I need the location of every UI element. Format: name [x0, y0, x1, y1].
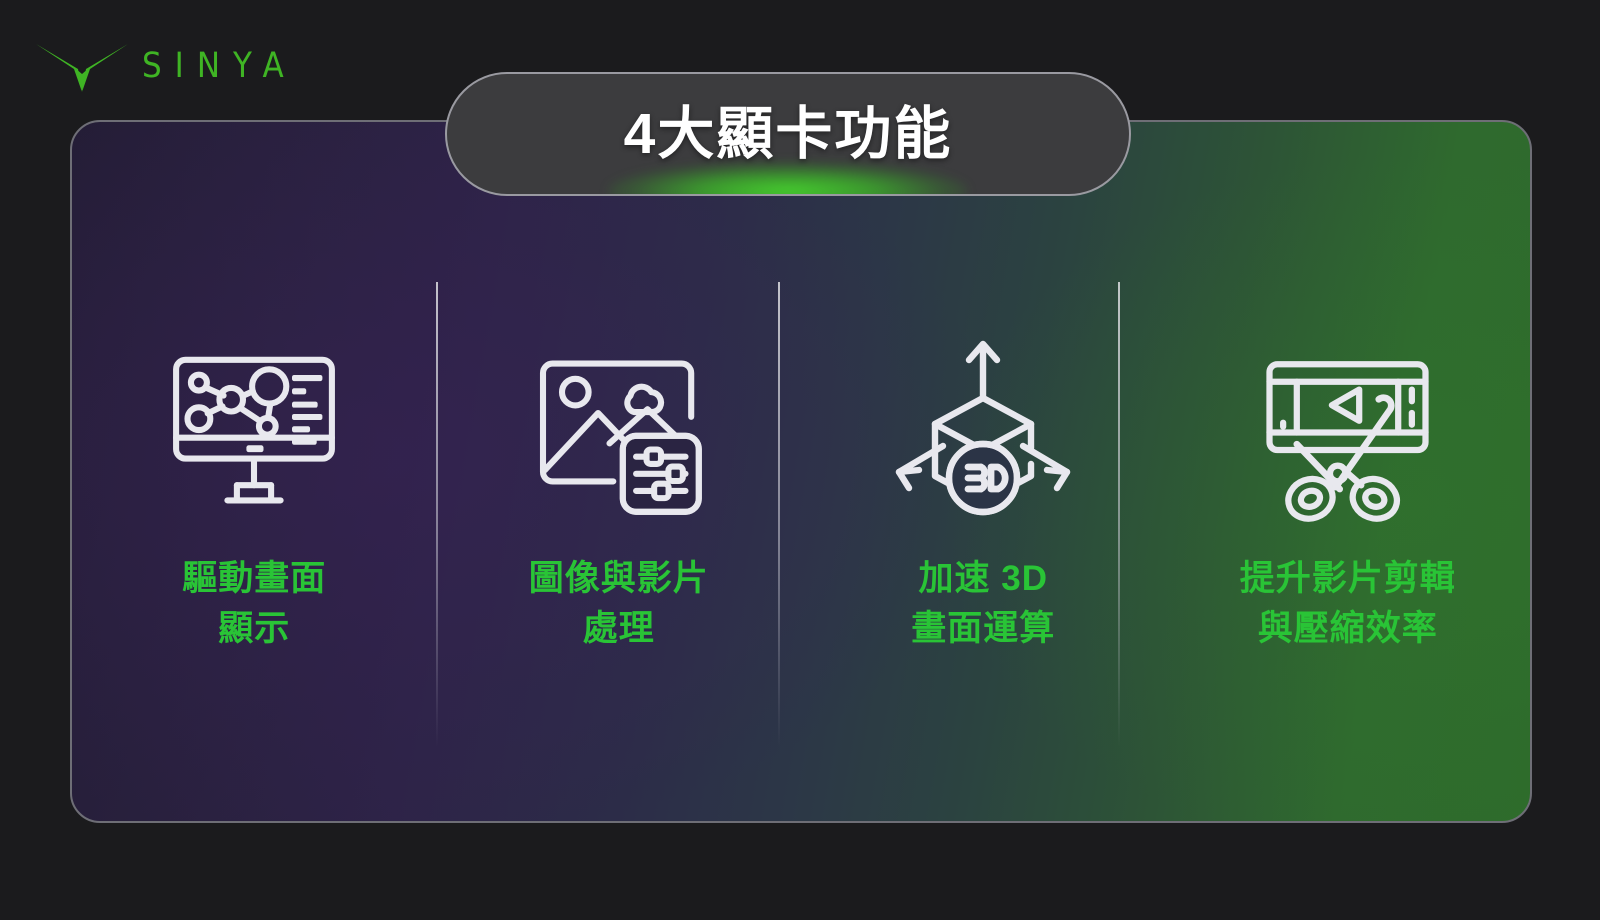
column-divider	[1118, 282, 1120, 747]
page-title: 4大顯卡功能	[624, 106, 953, 163]
feature-label: 驅動畫面 顯示	[182, 554, 326, 653]
feature-item-image-video-processing[interactable]: 圖像與影片 處理	[437, 122, 802, 821]
feature-item-video-editing-encoding[interactable]: 提升影片剪輯 與壓縮效率	[1166, 122, 1531, 821]
feature-columns: 驅動畫面 顯示	[72, 122, 1530, 821]
features-panel: 驅動畫面 顯示	[70, 120, 1532, 823]
cube-3d-axes-icon	[883, 332, 1083, 532]
feature-label: 提升影片剪輯 與壓縮效率	[1240, 554, 1456, 653]
video-timeline-scissors-icon	[1250, 332, 1445, 532]
monitor-network-graph-icon	[159, 332, 349, 532]
feature-item-display-output[interactable]: 驅動畫面 顯示	[72, 122, 437, 821]
infographic-stage: SINYA	[0, 0, 1600, 920]
column-divider	[778, 282, 780, 747]
brand-wordmark: SINYA	[142, 49, 297, 84]
page-title-pill: 4大顯卡功能	[445, 72, 1131, 196]
photo-sliders-icon	[524, 332, 714, 532]
column-divider	[436, 282, 438, 747]
sinya-v-logo-icon	[34, 38, 130, 94]
feature-label: 加速 3D 畫面運算	[911, 554, 1055, 653]
feature-label: 圖像與影片 處理	[529, 554, 709, 653]
brand-logo: SINYA	[34, 38, 297, 94]
title-glow	[608, 162, 968, 196]
feature-item-3d-acceleration[interactable]: 加速 3D 畫面運算	[801, 122, 1166, 821]
